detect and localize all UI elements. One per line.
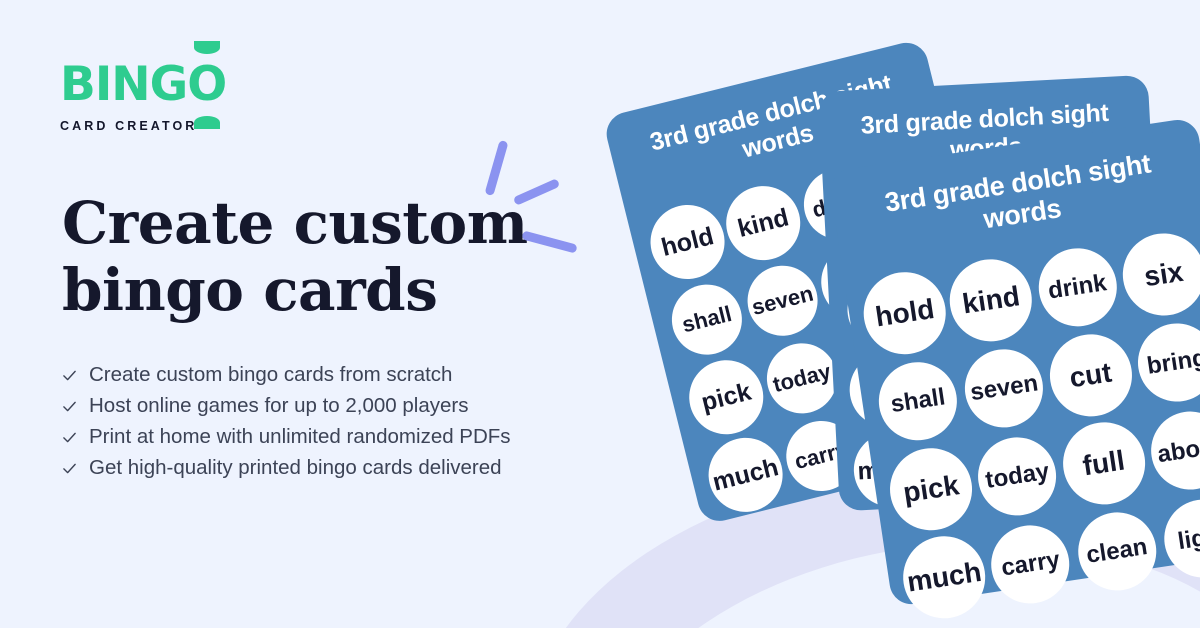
check-icon <box>62 430 77 445</box>
feature-list-item-label: Get high-quality printed bingo cards del… <box>89 458 502 479</box>
bingo-cell: full <box>1057 417 1150 510</box>
bingo-word-chip: hold <box>858 267 951 360</box>
bingo-cell: hold <box>858 267 951 360</box>
check-icon <box>62 399 77 414</box>
feature-list-item: Create custom bingo cards from scratch <box>62 360 511 391</box>
bingo-word-chip: drink <box>1033 243 1122 332</box>
bingo-cell: seven <box>958 342 1051 435</box>
check-icon <box>62 461 77 476</box>
headline-line-2: bingo cards <box>62 257 528 324</box>
bingo-cell: shall <box>662 275 752 365</box>
bingo-word-chip: light <box>1159 494 1200 583</box>
bingo-word-chip: clean <box>1073 507 1162 596</box>
feature-list: Create custom bingo cards from scratchHo… <box>62 360 511 484</box>
feature-list-item-label: Host online games for up to 2,000 player… <box>89 396 468 417</box>
bingo-cell: cut <box>1044 329 1137 422</box>
sparkle-decoration-icon <box>470 130 600 250</box>
bingo-word-chip: today <box>973 432 1062 521</box>
brand-logo[interactable]: BINGO CARD CREATOR <box>60 58 226 133</box>
bingo-word-chip: full <box>1057 417 1150 510</box>
bingo-cell: much <box>701 430 791 520</box>
bingo-word-chip: seven <box>960 344 1049 433</box>
sparkle-ray-2 <box>513 178 561 206</box>
bingo-cell: light <box>1156 492 1200 585</box>
bingo-cell: about <box>1143 404 1200 497</box>
bingo-cell: carry <box>984 518 1077 611</box>
bingo-word-chip: shall <box>874 357 963 446</box>
feature-list-item-label: Create custom bingo cards from scratch <box>89 365 452 386</box>
logo-o-group: O <box>187 58 226 112</box>
bingo-cell: kind <box>944 254 1037 347</box>
bingo-cell: today <box>971 430 1064 523</box>
headline-line-1: Create custom <box>62 190 528 257</box>
bingo-word-grid: holdkinddrinksixshallsevencutbringpickto… <box>858 228 1200 624</box>
bingo-cell: shall <box>871 355 964 448</box>
bingo-cell: bring <box>1130 316 1200 409</box>
bingo-word-chip: shall <box>664 277 749 362</box>
hero-banner: BINGO CARD CREATOR Create custom bingo c… <box>0 0 1200 628</box>
bingo-word-chip: kind <box>945 254 1038 347</box>
sparkle-ray-1 <box>484 140 508 196</box>
logo-wordmark: BINGO <box>60 58 226 112</box>
bingo-cell: pick <box>884 443 977 536</box>
bingo-cell: drink <box>1031 241 1124 334</box>
bingo-cell: six <box>1117 228 1200 321</box>
bingo-word-chip: about <box>1146 406 1200 495</box>
bingo-word-chip: kind <box>718 178 808 268</box>
logo-arc-bottom-icon <box>194 116 220 129</box>
bingo-word-chip: bring <box>1133 318 1200 407</box>
bingo-cell: kind <box>718 178 808 268</box>
bingo-word-chip: much <box>898 531 991 624</box>
bingo-card-front: 3rd grade dolch sight wordsholdkinddrink… <box>828 117 1200 607</box>
bingo-word-chip: cut <box>1044 329 1137 422</box>
bingo-cell: seven <box>738 256 828 346</box>
bingo-word-chip: much <box>701 430 791 520</box>
bingo-cell: pick <box>681 352 771 442</box>
feature-list-item: Host online games for up to 2,000 player… <box>62 391 511 422</box>
bingo-word-chip: carry <box>986 520 1075 609</box>
page-title: Create custom bingo cards <box>62 190 528 325</box>
check-icon <box>62 368 77 383</box>
logo-letter-o: O <box>187 57 226 112</box>
bingo-cell: hold <box>643 197 733 287</box>
logo-arc-top-icon <box>194 41 220 54</box>
logo-letters: BING <box>60 57 187 112</box>
bingo-word-chip: hold <box>643 197 733 287</box>
bingo-word-chip: seven <box>740 258 825 343</box>
bingo-cell: clean <box>1070 505 1163 598</box>
feature-list-item: Print at home with unlimited randomized … <box>62 422 511 453</box>
bingo-word-chip: six <box>1117 228 1200 321</box>
bingo-word-chip: pick <box>885 443 978 536</box>
feature-list-item: Get high-quality printed bingo cards del… <box>62 453 511 484</box>
bingo-cell: much <box>898 531 991 624</box>
sparkle-ray-3 <box>521 230 577 253</box>
bingo-word-chip: pick <box>681 352 771 442</box>
feature-list-item-label: Print at home with unlimited randomized … <box>89 427 511 448</box>
